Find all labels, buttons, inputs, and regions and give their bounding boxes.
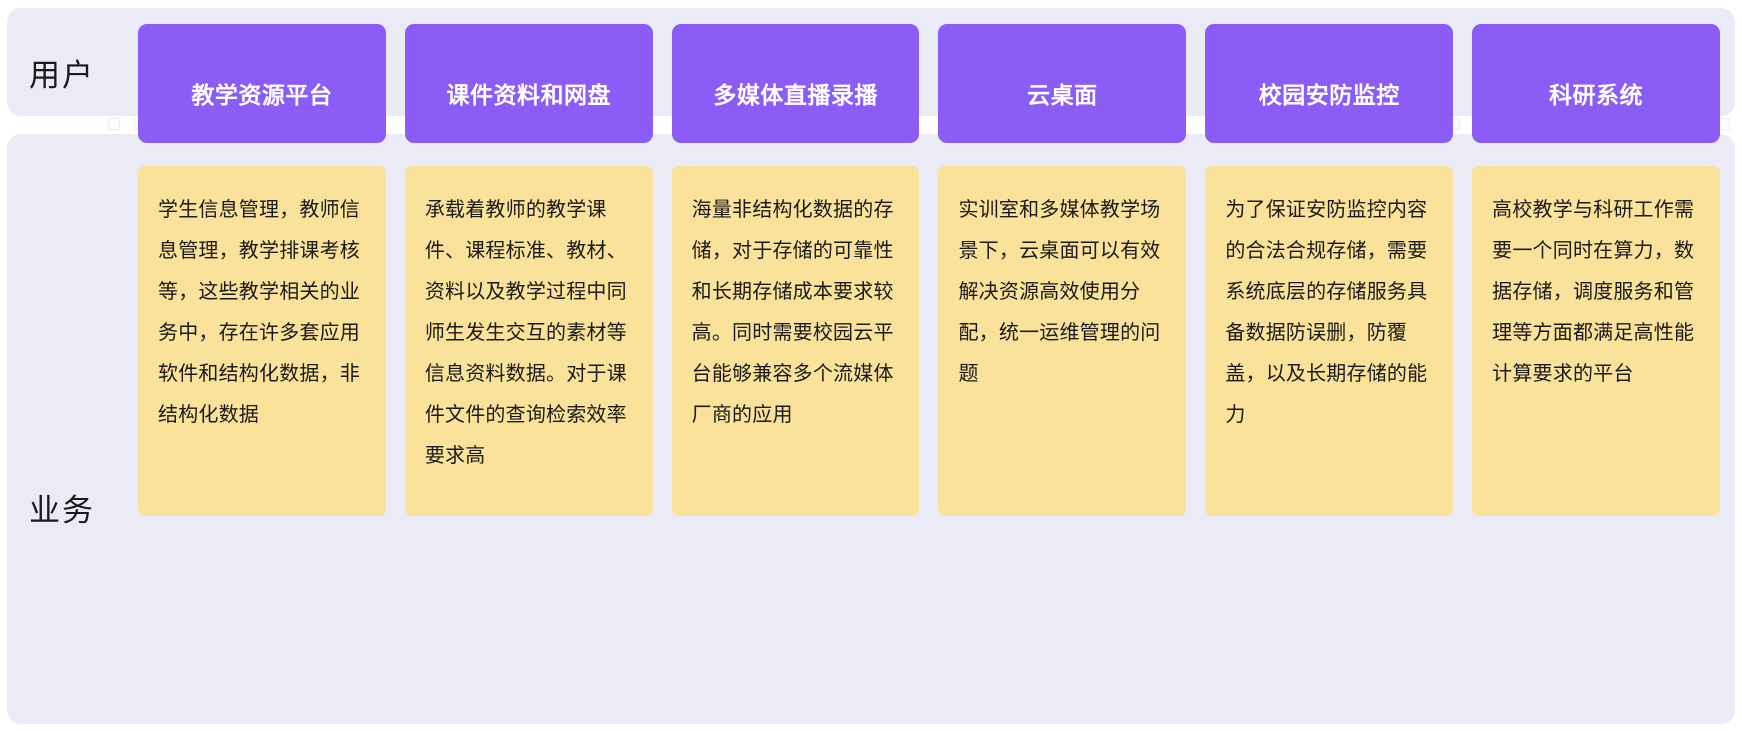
users-row-label: 用户 [29,50,95,95]
business-column-research-system: 科研系统 高校教学与科研工作需要一个同时在算力，数据存储，调度服务和管理等方面都… [1472,42,1720,572]
description-card-courseware-and-netdisk: 承载着教师的教学课件、课程标准、教材、资料以及教学过程中同师生发生交互的素材等信… [405,166,653,516]
business-row-label: 业务 [29,485,95,530]
description-card-teaching-resource-platform: 学生信息管理，教师信息管理，教学排课考核等，这些教学相关的业务中，存在许多套应用… [138,166,386,516]
business-column-cloud-desktop: 云桌面 实训室和多媒体教学场景下，云桌面可以有效解决资源高效使用分配，统一运维管… [938,42,1186,572]
system-card-cloud-desktop[interactable]: 云桌面 [938,42,1186,143]
description-card-multimedia-live-recording: 海量非结构化数据的存储，对于存储的可靠性和长期存储成本要求较高。同时需要校园云平… [672,166,920,516]
business-column-courseware-netdisk: 课件资料和网盘 承载着教师的教学课件、课程标准、教材、资料以及教学过程中同师生发… [405,42,653,572]
system-card-teaching-resource-platform[interactable]: 教学资源平台 [138,42,386,143]
description-card-research-system: 高校教学与科研工作需要一个同时在算力，数据存储，调度服务和管理等方面都满足高性能… [1472,166,1720,516]
description-card-cloud-desktop: 实训室和多媒体教学场景下，云桌面可以有效解决资源高效使用分配，统一运维管理的问题 [938,166,1186,516]
system-card-courseware-and-netdisk[interactable]: 课件资料和网盘 [405,42,653,143]
architecture-diagram: 用户 教师 学生 后勤 校友 公共服务 科研人员 [0,0,1742,731]
business-column-campus-security: 校园安防监控 为了保证安防监控内容的合法合规存储，需要系统底层的存储服务具备数据… [1205,42,1453,572]
business-column-teaching-resource: 教学资源平台 学生信息管理，教师信息管理，教学排课考核等，这些教学相关的业务中，… [138,42,386,572]
scan-artifact [108,118,120,130]
system-card-campus-security-monitoring[interactable]: 校园安防监控 [1205,42,1453,143]
business-column-list: 教学资源平台 学生信息管理，教师信息管理，教学排课考核等，这些教学相关的业务中，… [138,42,1720,572]
business-column-multimedia-live: 多媒体直播录播 海量非结构化数据的存储，对于存储的可靠性和长期存储成本要求较高。… [672,42,920,572]
system-card-research-system[interactable]: 科研系统 [1472,42,1720,143]
system-card-multimedia-live-recording[interactable]: 多媒体直播录播 [672,42,920,143]
description-card-campus-security-monitoring: 为了保证安防监控内容的合法合规存储，需要系统底层的存储服务具备数据防误删，防覆盖… [1205,166,1453,516]
